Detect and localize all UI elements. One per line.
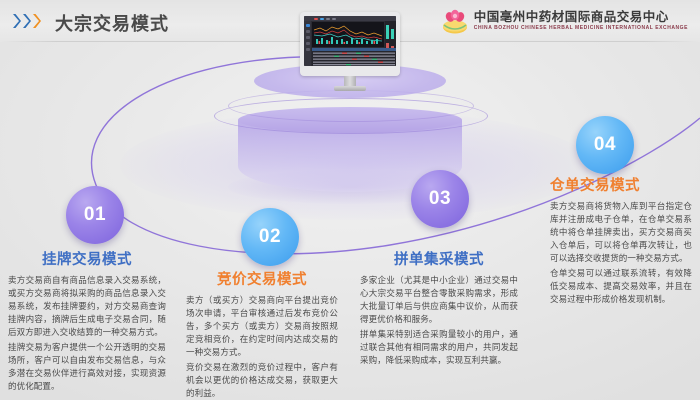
chevron-right-icon [22, 13, 31, 29]
mode-paragraph: 仓单交易可以通过联系流转，有效降低交易成本、提高交易效率，并且在交易过程中形成价… [550, 267, 692, 306]
app-sidebar [304, 21, 311, 66]
mode-block-04: 仓单交易模式 卖方交易商将货物入库到平台指定仓库并注册成电子仓单，在仓单交易系统… [550, 174, 692, 306]
chevron-right-icon [32, 13, 41, 29]
badge-number: 03 [429, 188, 451, 210]
mode-title: 挂牌交易模式 [8, 248, 166, 269]
step-badge-01[interactable]: 01 [66, 186, 124, 244]
badge-number: 02 [259, 226, 281, 248]
app-titlebar [304, 16, 396, 21]
mode-paragraph: 拼单集采特别适合采购量较小的用户，通过联合其他有相同需求的用户，共同发起采购，降… [360, 328, 518, 367]
mode-title: 仓单交易模式 [550, 174, 692, 195]
page-title: 大宗交易模式 [55, 10, 169, 36]
logo-name-cn: 中国亳州中药材国际商品交易中心 [474, 11, 688, 24]
slide-canvas: 大宗交易模式 中国亳州中药材国际商品交易中心 CHINA BOZHOU CHIN… [0, 0, 700, 400]
logo-text: 中国亳州中药材国际商品交易中心 CHINA BOZHOU CHINESE HER… [474, 11, 688, 32]
mode-block-03: 拼单集采模式 多家企业（尤其是中小企业）通过交易中心大宗交易平台整合零散采购需求… [360, 248, 518, 367]
mode-title: 拼单集采模式 [360, 248, 518, 269]
quote-table-area [312, 48, 396, 66]
mode-paragraph: 多家企业（尤其是中小企业）通过交易中心大宗交易平台整合零散采购需求，形成大批量订… [360, 274, 518, 326]
monitor-bezel [300, 12, 400, 76]
badge-number: 04 [594, 134, 616, 156]
desktop-monitor-trading-screen-icon [300, 12, 400, 100]
chevron-right-icon [12, 13, 21, 29]
mode-paragraph: 卖方交易商将货物入库到平台指定仓库并注册成电子仓单，在仓单交易系统中将仓单挂牌卖… [550, 200, 692, 265]
mode-paragraph: 竞价交易在激烈的竞价过程中，客户有机会以更优的价格达成交易，获取更大的利益。 [186, 361, 338, 400]
mode-paragraph: 卖方（或买方）交易商向平台提出竞价场次申请，平台审核通过后发布竞价公告，多个买方… [186, 294, 338, 359]
mode-block-01: 挂牌交易模式 卖方交易商自有商品信息录入交易系统，或买方交易商将拟采购的商品信息… [8, 248, 166, 393]
step-badge-02[interactable]: 02 [241, 208, 299, 266]
chevron-group [12, 13, 41, 29]
mode-paragraph: 卖方交易商自有商品信息录入交易系统，或买方交易商将拟采购的商品信息录入交易系统，… [8, 274, 166, 339]
mode-paragraph: 挂牌交易为客户提供一个公开透明的交易场所，客户可以自由发布交易信息，与众多潜在交… [8, 341, 166, 393]
monitor-stand-base [334, 86, 366, 91]
monitor-display [304, 16, 396, 66]
mode-block-02: 竞价交易模式 卖方（或买方）交易商向平台提出竞价场次申请，平台审核通过后发布竞价… [186, 268, 338, 400]
step-badge-04[interactable]: 04 [576, 116, 634, 174]
step-badge-03[interactable]: 03 [411, 170, 469, 228]
organization-logo: 中国亳州中药材国际商品交易中心 CHINA BOZHOU CHINESE HER… [441, 5, 688, 37]
price-chart-area [312, 22, 384, 47]
mode-title: 竞价交易模式 [186, 268, 338, 289]
lotus-flower-logo-icon [441, 7, 469, 35]
badge-number: 01 [84, 204, 106, 226]
logo-name-en: CHINA BOZHOU CHINESE HERBAL MEDICINE INT… [474, 26, 688, 31]
